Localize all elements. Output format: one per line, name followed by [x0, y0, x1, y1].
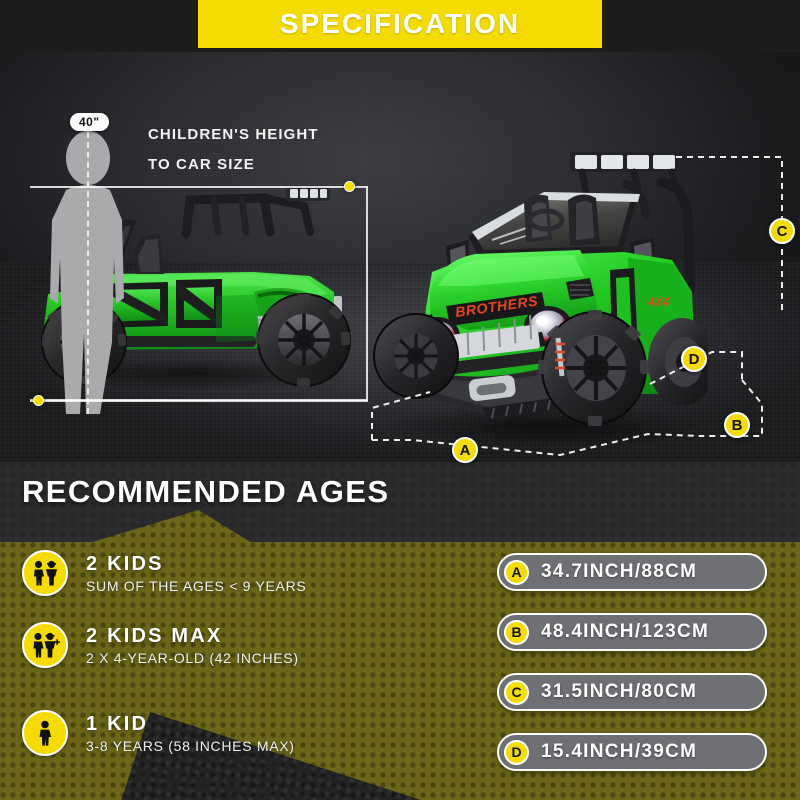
height-frame-top	[30, 186, 368, 188]
age-row-two-kids: 2 KIDS SUM OF THE AGES < 9 YEARS	[22, 550, 306, 596]
age-subtitle: 3-8 YEARS (58 INCHES MAX)	[86, 738, 295, 754]
page-title: SPECIFICATION	[0, 0, 800, 48]
one-kid-icon	[22, 710, 68, 756]
two-kids-max-icon	[22, 622, 68, 668]
ground-anchor-dot-left	[33, 395, 44, 406]
marker-A: A	[452, 437, 478, 463]
roof-anchor-dot	[344, 181, 355, 192]
dimension-value: 34.7INCH/88CM	[541, 561, 697, 583]
dimension-letter: C	[504, 680, 529, 705]
dimension-badge-B: B 48.4INCH/123CM	[497, 613, 767, 651]
marker-D: D	[681, 346, 707, 372]
specification-infographic: 4X4	[0, 0, 800, 800]
height-caption: CHILDREN'S HEIGHT TO CAR SIZE	[148, 120, 378, 180]
dimension-letter: B	[504, 620, 529, 645]
two-kids-icon	[22, 550, 68, 596]
age-title: 1 KID	[86, 713, 295, 736]
height-badge: 40"	[70, 113, 109, 131]
dimension-value: 48.4INCH/123CM	[541, 621, 709, 643]
caption-line-1: CHILDREN'S HEIGHT	[148, 120, 378, 150]
dimension-letter: A	[504, 560, 529, 585]
age-subtitle: 2 X 4-YEAR-OLD (42 INCHES)	[86, 650, 299, 666]
dimension-value: 15.4INCH/39CM	[541, 741, 697, 763]
vehicle-front-view: 4X4 BROTHERS	[372, 140, 708, 450]
product-photo-section: 4X4	[0, 0, 800, 470]
ground-reference-line	[30, 400, 368, 402]
marker-C: C	[769, 218, 795, 244]
header-banner: SPECIFICATION	[0, 0, 800, 52]
age-text-one-kid: 1 KID 3-8 YEARS (58 INCHES MAX)	[86, 713, 295, 754]
dimension-badge-A: A 34.7INCH/88CM	[497, 553, 767, 591]
age-title: 2 KIDS MAX	[86, 625, 299, 648]
age-text-two-kids: 2 KIDS SUM OF THE AGES < 9 YEARS	[86, 553, 306, 594]
svg-text:4X4: 4X4	[647, 295, 670, 309]
age-title: 2 KIDS	[86, 553, 306, 576]
dimension-badge-C: C 31.5INCH/80CM	[497, 673, 767, 711]
age-subtitle: SUM OF THE AGES < 9 YEARS	[86, 578, 306, 594]
dimension-value: 31.5INCH/80CM	[541, 681, 697, 703]
height-dashed-line	[87, 132, 89, 414]
age-text-two-kids-max: 2 KIDS MAX 2 X 4-YEAR-OLD (42 INCHES)	[86, 625, 299, 666]
marker-B: B	[724, 412, 750, 438]
recommended-ages-title: RECOMMENDED AGES	[22, 474, 389, 510]
age-row-two-kids-max: 2 KIDS MAX 2 X 4-YEAR-OLD (42 INCHES)	[22, 622, 299, 668]
dimension-badge-D: D 15.4INCH/39CM	[497, 733, 767, 771]
age-row-one-kid: 1 KID 3-8 YEARS (58 INCHES MAX)	[22, 710, 295, 756]
caption-line-2: TO CAR SIZE	[148, 150, 378, 180]
dimension-letter: D	[504, 740, 529, 765]
